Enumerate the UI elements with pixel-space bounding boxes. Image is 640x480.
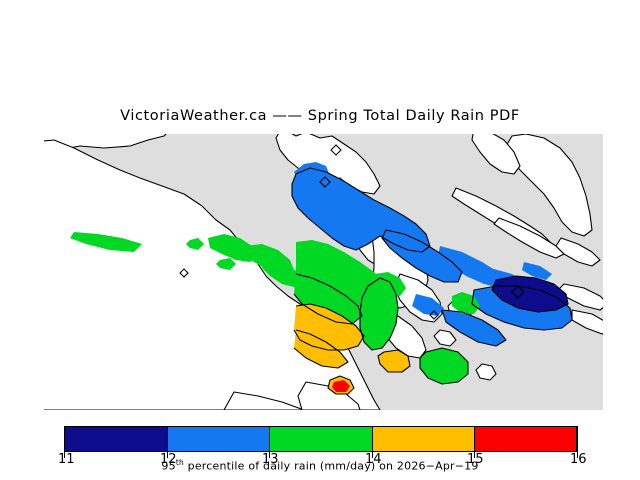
weather-map-page: VictoriaWeather.ca —— Spring Total Daily… xyxy=(0,0,640,480)
colorbar-segment-14-15[interactable] xyxy=(372,426,475,452)
colorbar-segment-12-13[interactable] xyxy=(167,426,270,452)
colorbar-segment-11-12[interactable] xyxy=(64,426,167,452)
colorbar-caption: 95th percentile of daily rain (mm/day) o… xyxy=(0,458,640,473)
map-canvas[interactable] xyxy=(44,134,603,410)
caption-prefix: 95 xyxy=(161,460,175,473)
caption-superscript: th xyxy=(176,458,184,467)
colorbar-segment-13-14[interactable] xyxy=(269,426,372,452)
colorbar-segment-15-16[interactable] xyxy=(474,426,577,452)
caption-rest: percentile of daily rain (mm/day) on 202… xyxy=(184,460,479,473)
colorbar[interactable] xyxy=(64,426,577,452)
page-title: VictoriaWeather.ca —— Spring Total Daily… xyxy=(0,108,640,124)
map-svg[interactable] xyxy=(44,134,603,410)
